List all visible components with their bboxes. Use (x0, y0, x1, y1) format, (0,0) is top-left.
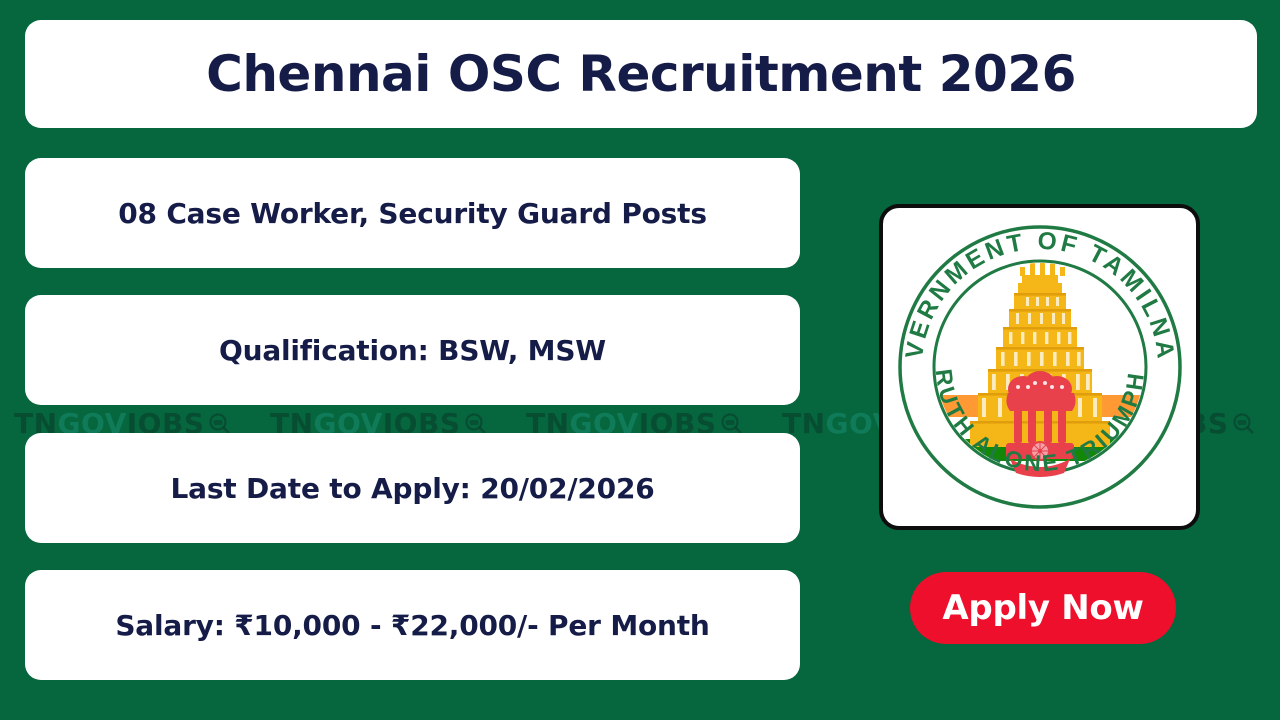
recruitment-banner: TNGOVJOBS TNGOVJOBS TNGOVJOBS TNGOVJOBS … (0, 0, 1280, 720)
info-card-salary: Salary: ₹10,000 - ₹22,000/- Per Month (25, 570, 800, 680)
emblem-svg: GOVERNMENT OF TAMILNADU TRUTH ALONE TRIU… (890, 217, 1190, 517)
title-card: Chennai OSC Recruitment 2026 (25, 20, 1257, 128)
info-card-text: Qualification: BSW, MSW (205, 334, 620, 367)
info-card-qualification: Qualification: BSW, MSW (25, 295, 800, 405)
info-card-posts: 08 Case Worker, Security Guard Posts (25, 158, 800, 268)
info-card-text: Last Date to Apply: 20/02/2026 (156, 472, 668, 505)
info-card-text: Salary: ₹10,000 - ₹22,000/- Per Month (101, 609, 723, 642)
apply-now-button[interactable]: Apply Now (910, 572, 1176, 644)
info-card-last-date: Last Date to Apply: 20/02/2026 (25, 433, 800, 543)
apply-now-label: Apply Now (942, 588, 1143, 628)
magnifier-icon (1232, 412, 1256, 436)
gopuram-temple-icon (970, 261, 1110, 447)
tamilnadu-government-emblem: GOVERNMENT OF TAMILNADU TRUTH ALONE TRIU… (879, 204, 1200, 530)
info-card-text: 08 Case Worker, Security Guard Posts (104, 197, 721, 230)
page-title: Chennai OSC Recruitment 2026 (206, 45, 1076, 103)
